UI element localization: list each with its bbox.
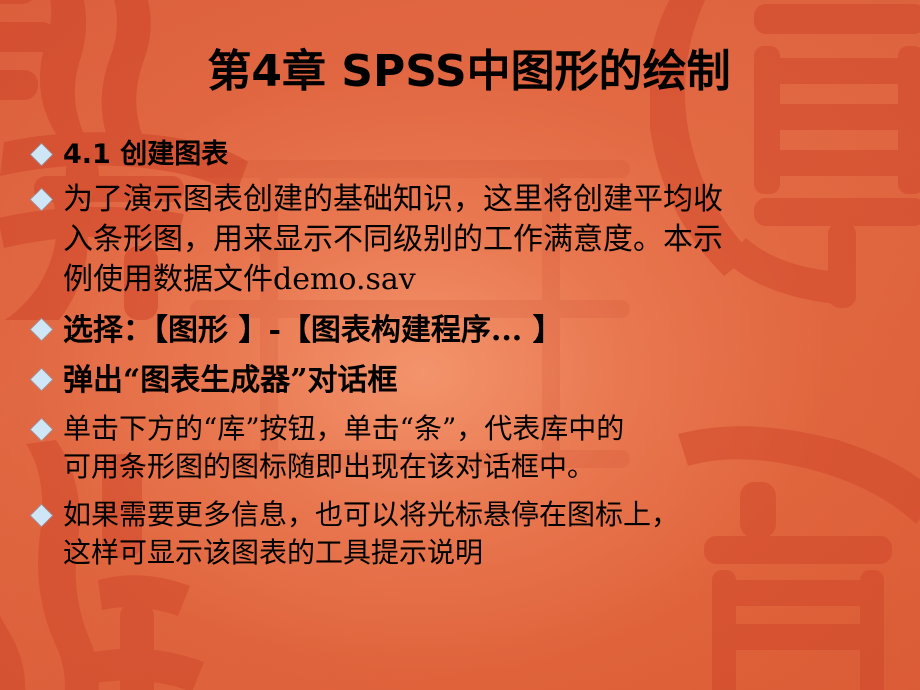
- list-item: 弹出“图表生成器”对话框: [34, 360, 902, 402]
- diamond-bullet-icon: [31, 319, 52, 340]
- bullet-text: 如果需要更多信息，也可以将光标悬停在图标上， 这样可显示该图表的工具提示说明: [63, 496, 902, 572]
- bullet-text: 单击下方的“库”按钮，单击“条”，代表库中的 可用条形图的图标随即出现在该对话框…: [63, 410, 902, 486]
- list-item: 4.1 创建图表: [34, 136, 902, 174]
- diamond-bullet-icon: [31, 144, 52, 165]
- diamond-bullet-icon: [31, 419, 52, 440]
- diamond-bullet-icon: [31, 369, 52, 390]
- diamond-bullet-icon: [31, 505, 52, 526]
- page-title: 第4章 SPSS中图形的绘制: [189, 44, 730, 100]
- presentation-slide: 第4章 SPSS中图形的绘制 4.1 创建图表 为了演示图表创建的基础知识，这里…: [0, 0, 920, 690]
- bullet-text: 为了演示图表创建的基础知识，这里将创建平均收 入条形图，用来显示不同级别的工作满…: [63, 180, 902, 300]
- bullet-text: 选择：【图形 】-【图表构建程序... 】: [63, 310, 902, 352]
- diamond-bullet-icon: [31, 189, 52, 210]
- list-item: 如果需要更多信息，也可以将光标悬停在图标上， 这样可显示该图表的工具提示说明: [34, 496, 902, 572]
- list-item: 为了演示图表创建的基础知识，这里将创建平均收 入条形图，用来显示不同级别的工作满…: [34, 180, 902, 300]
- body-placeholder: 4.1 创建图表 为了演示图表创建的基础知识，这里将创建平均收 入条形图，用来显…: [34, 136, 902, 574]
- bullet-text: 4.1 创建图表: [63, 136, 902, 174]
- list-item: 选择：【图形 】-【图表构建程序... 】: [34, 310, 902, 352]
- bullet-text: 弹出“图表生成器”对话框: [63, 360, 902, 402]
- title-placeholder: 第4章 SPSS中图形的绘制: [0, 44, 920, 100]
- list-item: 单击下方的“库”按钮，单击“条”，代表库中的 可用条形图的图标随即出现在该对话框…: [34, 410, 902, 486]
